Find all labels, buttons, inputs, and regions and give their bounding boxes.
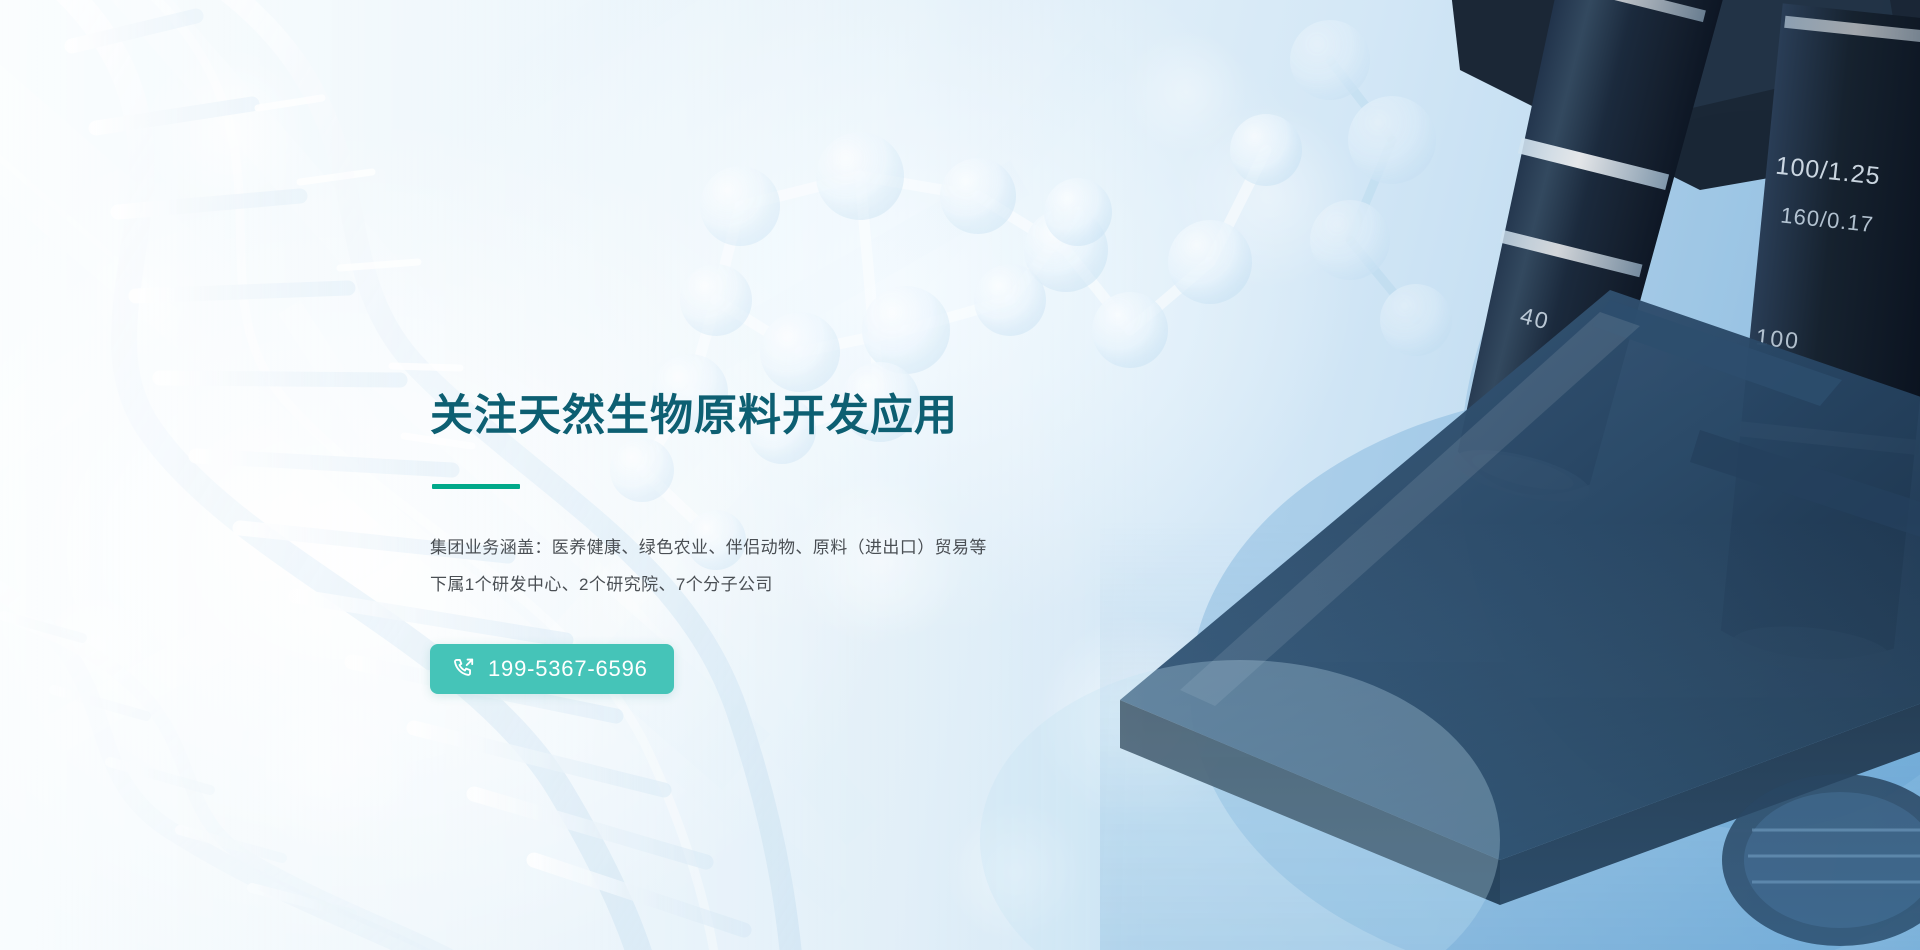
hero-description-line-2: 下属1个研发中心、2个研究院、7个分子公司 (430, 566, 1330, 603)
svg-text:100/1.25: 100/1.25 (1774, 152, 1882, 191)
phone-number-label: 199-5367-6596 (488, 658, 648, 680)
svg-text:100: 100 (1754, 324, 1801, 354)
svg-text:40: 40 (1518, 302, 1553, 334)
title-divider (432, 484, 520, 489)
hero-content: 关注天然生物原料开发应用 集团业务涵盖：医养健康、绿色农业、伴侣动物、原料（进出… (430, 392, 1330, 694)
phone-outgoing-icon (450, 656, 476, 682)
hero-banner: 40 100/1.25 160/0.17 100 (0, 0, 1920, 950)
page-title: 关注天然生物原料开发应用 (430, 392, 1330, 441)
phone-cta-button[interactable]: 199-5367-6596 (430, 644, 674, 694)
hero-description: 集团业务涵盖：医养健康、绿色农业、伴侣动物、原料（进出口）贸易等 下属1个研发中… (430, 529, 1330, 603)
hero-description-line-1: 集团业务涵盖：医养健康、绿色农业、伴侣动物、原料（进出口）贸易等 (430, 529, 1330, 566)
svg-text:160/0.17: 160/0.17 (1779, 202, 1875, 237)
